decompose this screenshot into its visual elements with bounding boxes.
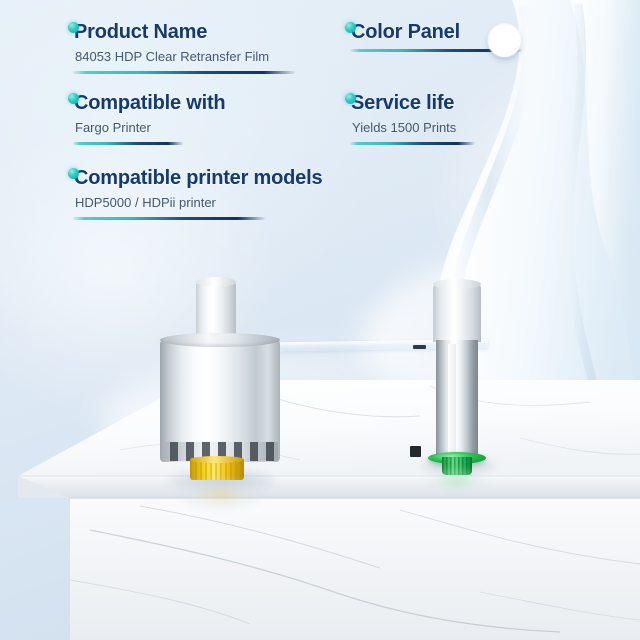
spec-underline bbox=[73, 217, 265, 220]
bullet-dot-icon bbox=[68, 22, 79, 33]
spec-title: Service life bbox=[345, 93, 475, 114]
bullet-dot-icon bbox=[68, 93, 79, 104]
marble-table bbox=[0, 380, 640, 640]
spec-title: Product Name bbox=[68, 22, 295, 43]
spec-subtitle: Yields 1500 Prints bbox=[345, 120, 475, 136]
roll-base-amber bbox=[190, 459, 244, 480]
spec-service-life: Service life Yields 1500 Prints bbox=[345, 93, 475, 145]
spec-underline bbox=[350, 142, 475, 145]
product-film-roll-large bbox=[160, 282, 280, 497]
spec-subtitle: 84053 HDP Clear Retransfer Film bbox=[68, 49, 295, 65]
spec-underline bbox=[73, 71, 295, 74]
spindle-shaft-highlight bbox=[448, 344, 456, 456]
spec-product-name: Product Name 84053 HDP Clear Retransfer … bbox=[68, 22, 295, 74]
spec-underline bbox=[73, 142, 183, 145]
spec-title: Compatible printer models bbox=[68, 168, 322, 189]
bullet-dot-icon bbox=[345, 22, 356, 33]
product-film-roll-spindle bbox=[424, 284, 490, 484]
spindle-base-green-hub bbox=[442, 457, 472, 475]
spec-subtitle: HDP5000 / HDPii printer bbox=[68, 195, 322, 211]
spec-title: Compatible with bbox=[68, 93, 225, 114]
table-pedestal bbox=[70, 498, 640, 640]
table-front-edge bbox=[18, 476, 640, 498]
spindle-top bbox=[433, 284, 481, 342]
spec-subtitle: Fargo Printer bbox=[68, 120, 225, 136]
table-top bbox=[18, 380, 640, 476]
bullet-dot-icon bbox=[345, 93, 356, 104]
spindle-body bbox=[436, 340, 478, 458]
spec-compatible-with: Compatible with Fargo Printer bbox=[68, 93, 225, 145]
color-swatch-white bbox=[488, 24, 521, 57]
spindle-chip-icon bbox=[410, 446, 421, 457]
product-banner: Product Name 84053 HDP Clear Retransfer … bbox=[0, 0, 640, 640]
spec-compatible-printer-models: Compatible printer models HDP5000 / HDPi… bbox=[68, 168, 322, 220]
bullet-dot-icon bbox=[68, 168, 79, 179]
curtain-panel-back bbox=[570, 0, 640, 420]
